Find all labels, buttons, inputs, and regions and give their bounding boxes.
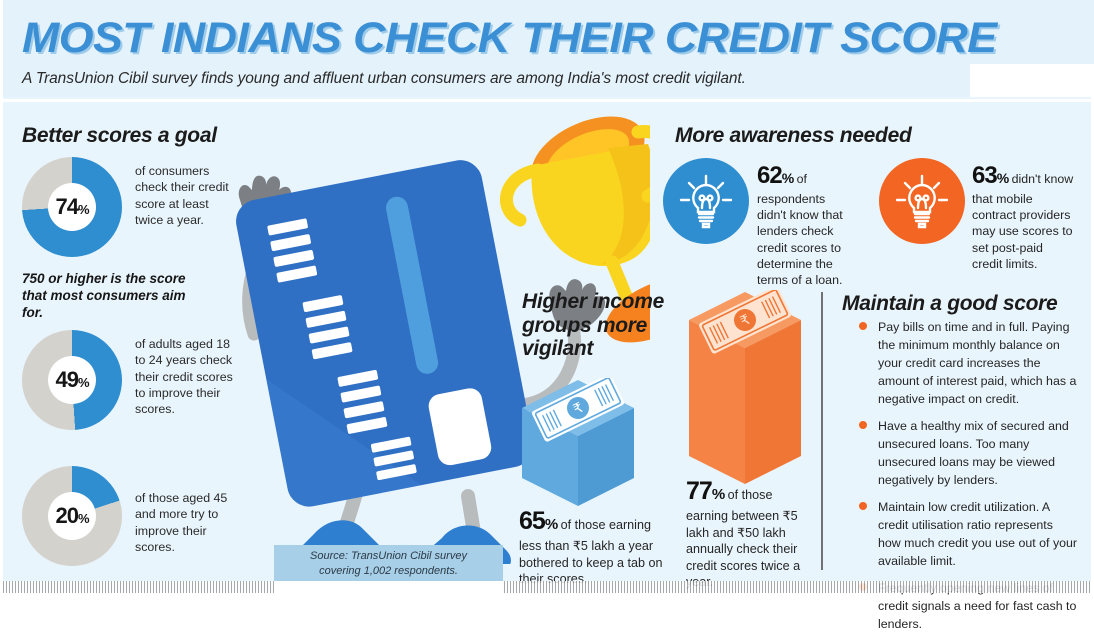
lightbulb-icon [894,173,950,229]
awareness-caption-62: of respondents didn't know that lenders … [757,172,843,287]
money-stack-orange: ₹ [683,290,805,491]
infographic-root: MOST INDIANS CHECK THEIR CREDIT SCORE A … [0,0,1094,593]
awareness-text-63: 63% didn't know that mobile contract pro… [972,160,1076,272]
bullet-text: Have a healthy mix of secured and unsecu… [878,419,1069,487]
header-divider [0,99,1094,102]
left-edge [0,0,3,593]
source-line-2: covering 1,002 respondents. [310,564,467,579]
lightbulb-badge-blue [663,158,749,244]
source-box: Source: TransUnion Cibil survey covering… [274,545,503,583]
section-heading-income: Higher income groups more vigilant [522,290,692,361]
bullet-dot-icon [859,502,867,510]
awareness-text-62: 62% of respondents didn't know that lend… [757,160,855,288]
page-title: MOST INDIANS CHECK THEIR CREDIT SCORE [22,14,997,63]
money-stack-icon: ₹ [683,290,805,486]
money-stack-blue: ₹ [516,378,638,513]
awareness-value-63: 63% [972,162,1008,189]
lightbulb-badge-orange [879,158,965,244]
bullet-dot-icon [859,421,867,429]
donut-hole: 20% [48,492,96,540]
header-white-corner [970,64,1094,97]
source-line-1: Source: TransUnion Cibil survey [310,549,467,564]
donut-value: 49% [55,369,88,391]
donut-value: 74% [55,196,88,218]
vertical-divider [821,292,823,570]
lightbulb-icon [678,173,734,229]
donut-chart-20: 20% [22,466,122,566]
bullet-dot-icon [859,322,867,330]
donut-hole: 74% [48,183,96,231]
bullet-text: Pay bills on time and in full. Paying th… [878,320,1076,406]
income-value-77: 77% [686,477,724,505]
donut-caption-74: of consumers check their credit score at… [135,163,235,228]
bottom-hatch-gap [274,581,503,593]
page-subtitle: A TransUnion Cibil survey finds young an… [22,70,746,88]
score-goal-note: 750 or higher is the score that most con… [22,270,197,321]
maintain-bullet-list: Pay bills on time and in full. Paying th… [857,318,1079,642]
section-heading-better-scores: Better scores a goal [22,124,217,148]
donut-chart-74: 74% [22,157,122,257]
income-value-65: 65% [519,507,557,535]
list-item: Maintain low credit utilization. A credi… [857,498,1079,570]
donut-caption-20: of those aged 45 and more try to improve… [135,490,235,555]
donut-value: 20% [55,505,88,527]
section-heading-awareness: More awareness needed [675,124,911,148]
income-text-77: 77% of those earning between ₹5 lakh and… [686,475,806,591]
awareness-value-62: 62% [757,162,793,189]
list-item: Have a healthy mix of secured and unsecu… [857,417,1079,489]
donut-chart-49: 49% [22,330,122,430]
income-text-65: 65% of those earning less than ₹5 lakh a… [519,505,674,588]
list-item: Pay bills on time and in full. Paying th… [857,318,1079,408]
donut-caption-49: of adults aged 18 to 24 years check thei… [135,336,235,417]
money-stack-icon: ₹ [516,378,638,508]
source-text: Source: TransUnion Cibil survey covering… [310,549,467,578]
bullet-text: Maintain low credit utilization. A credi… [878,500,1077,568]
section-heading-maintain: Maintain a good score [842,292,1057,316]
donut-hole: 49% [48,356,96,404]
bottom-hatch-rule [0,581,1094,593]
